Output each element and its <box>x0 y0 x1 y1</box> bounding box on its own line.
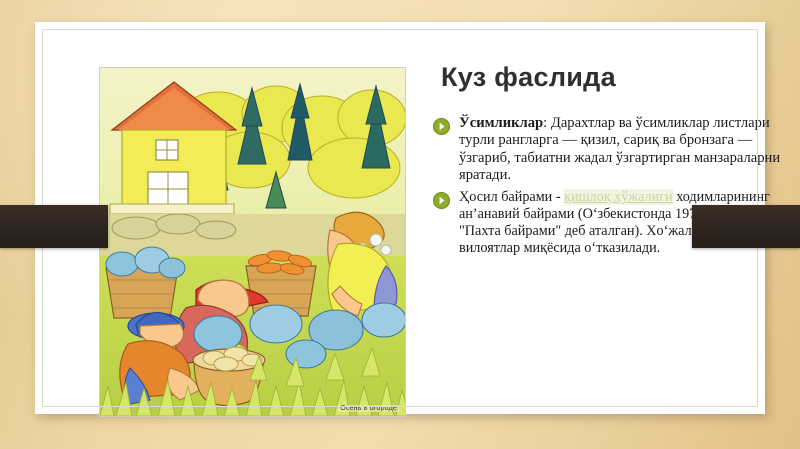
bullet-text-1: Ўсимликлар: Дарахтлар ва ўсимликлар лист… <box>459 115 795 185</box>
illustration-caption: Осень в огороде <box>338 405 399 412</box>
autumn-garden-illustration: Осень в огороде <box>99 67 406 417</box>
slide-stage: Осень в огороде Куз фаслида Ўсимликлар: … <box>0 0 800 449</box>
garden-scene-graphic <box>100 68 405 416</box>
page-title: Куз фаслида <box>441 62 795 93</box>
bullet-2-before: Ҳосил байрами - <box>459 189 564 205</box>
chevron-right-circle-icon <box>433 118 450 135</box>
agriculture-link[interactable]: қишлоқ хўжалиги <box>564 189 673 205</box>
chevron-right-circle-icon <box>433 192 450 209</box>
bullet-lead-1: Ўсимликлар <box>459 115 543 131</box>
bullet-separator-1: : <box>543 115 551 131</box>
list-item: Ўсимликлар: Дарахтлар ва ўсимликлар лист… <box>433 115 795 185</box>
ribbon-band-right <box>692 205 800 248</box>
ribbon-band-left <box>0 205 108 248</box>
slide-card: Осень в огороде Куз фаслида Ўсимликлар: … <box>35 22 765 414</box>
